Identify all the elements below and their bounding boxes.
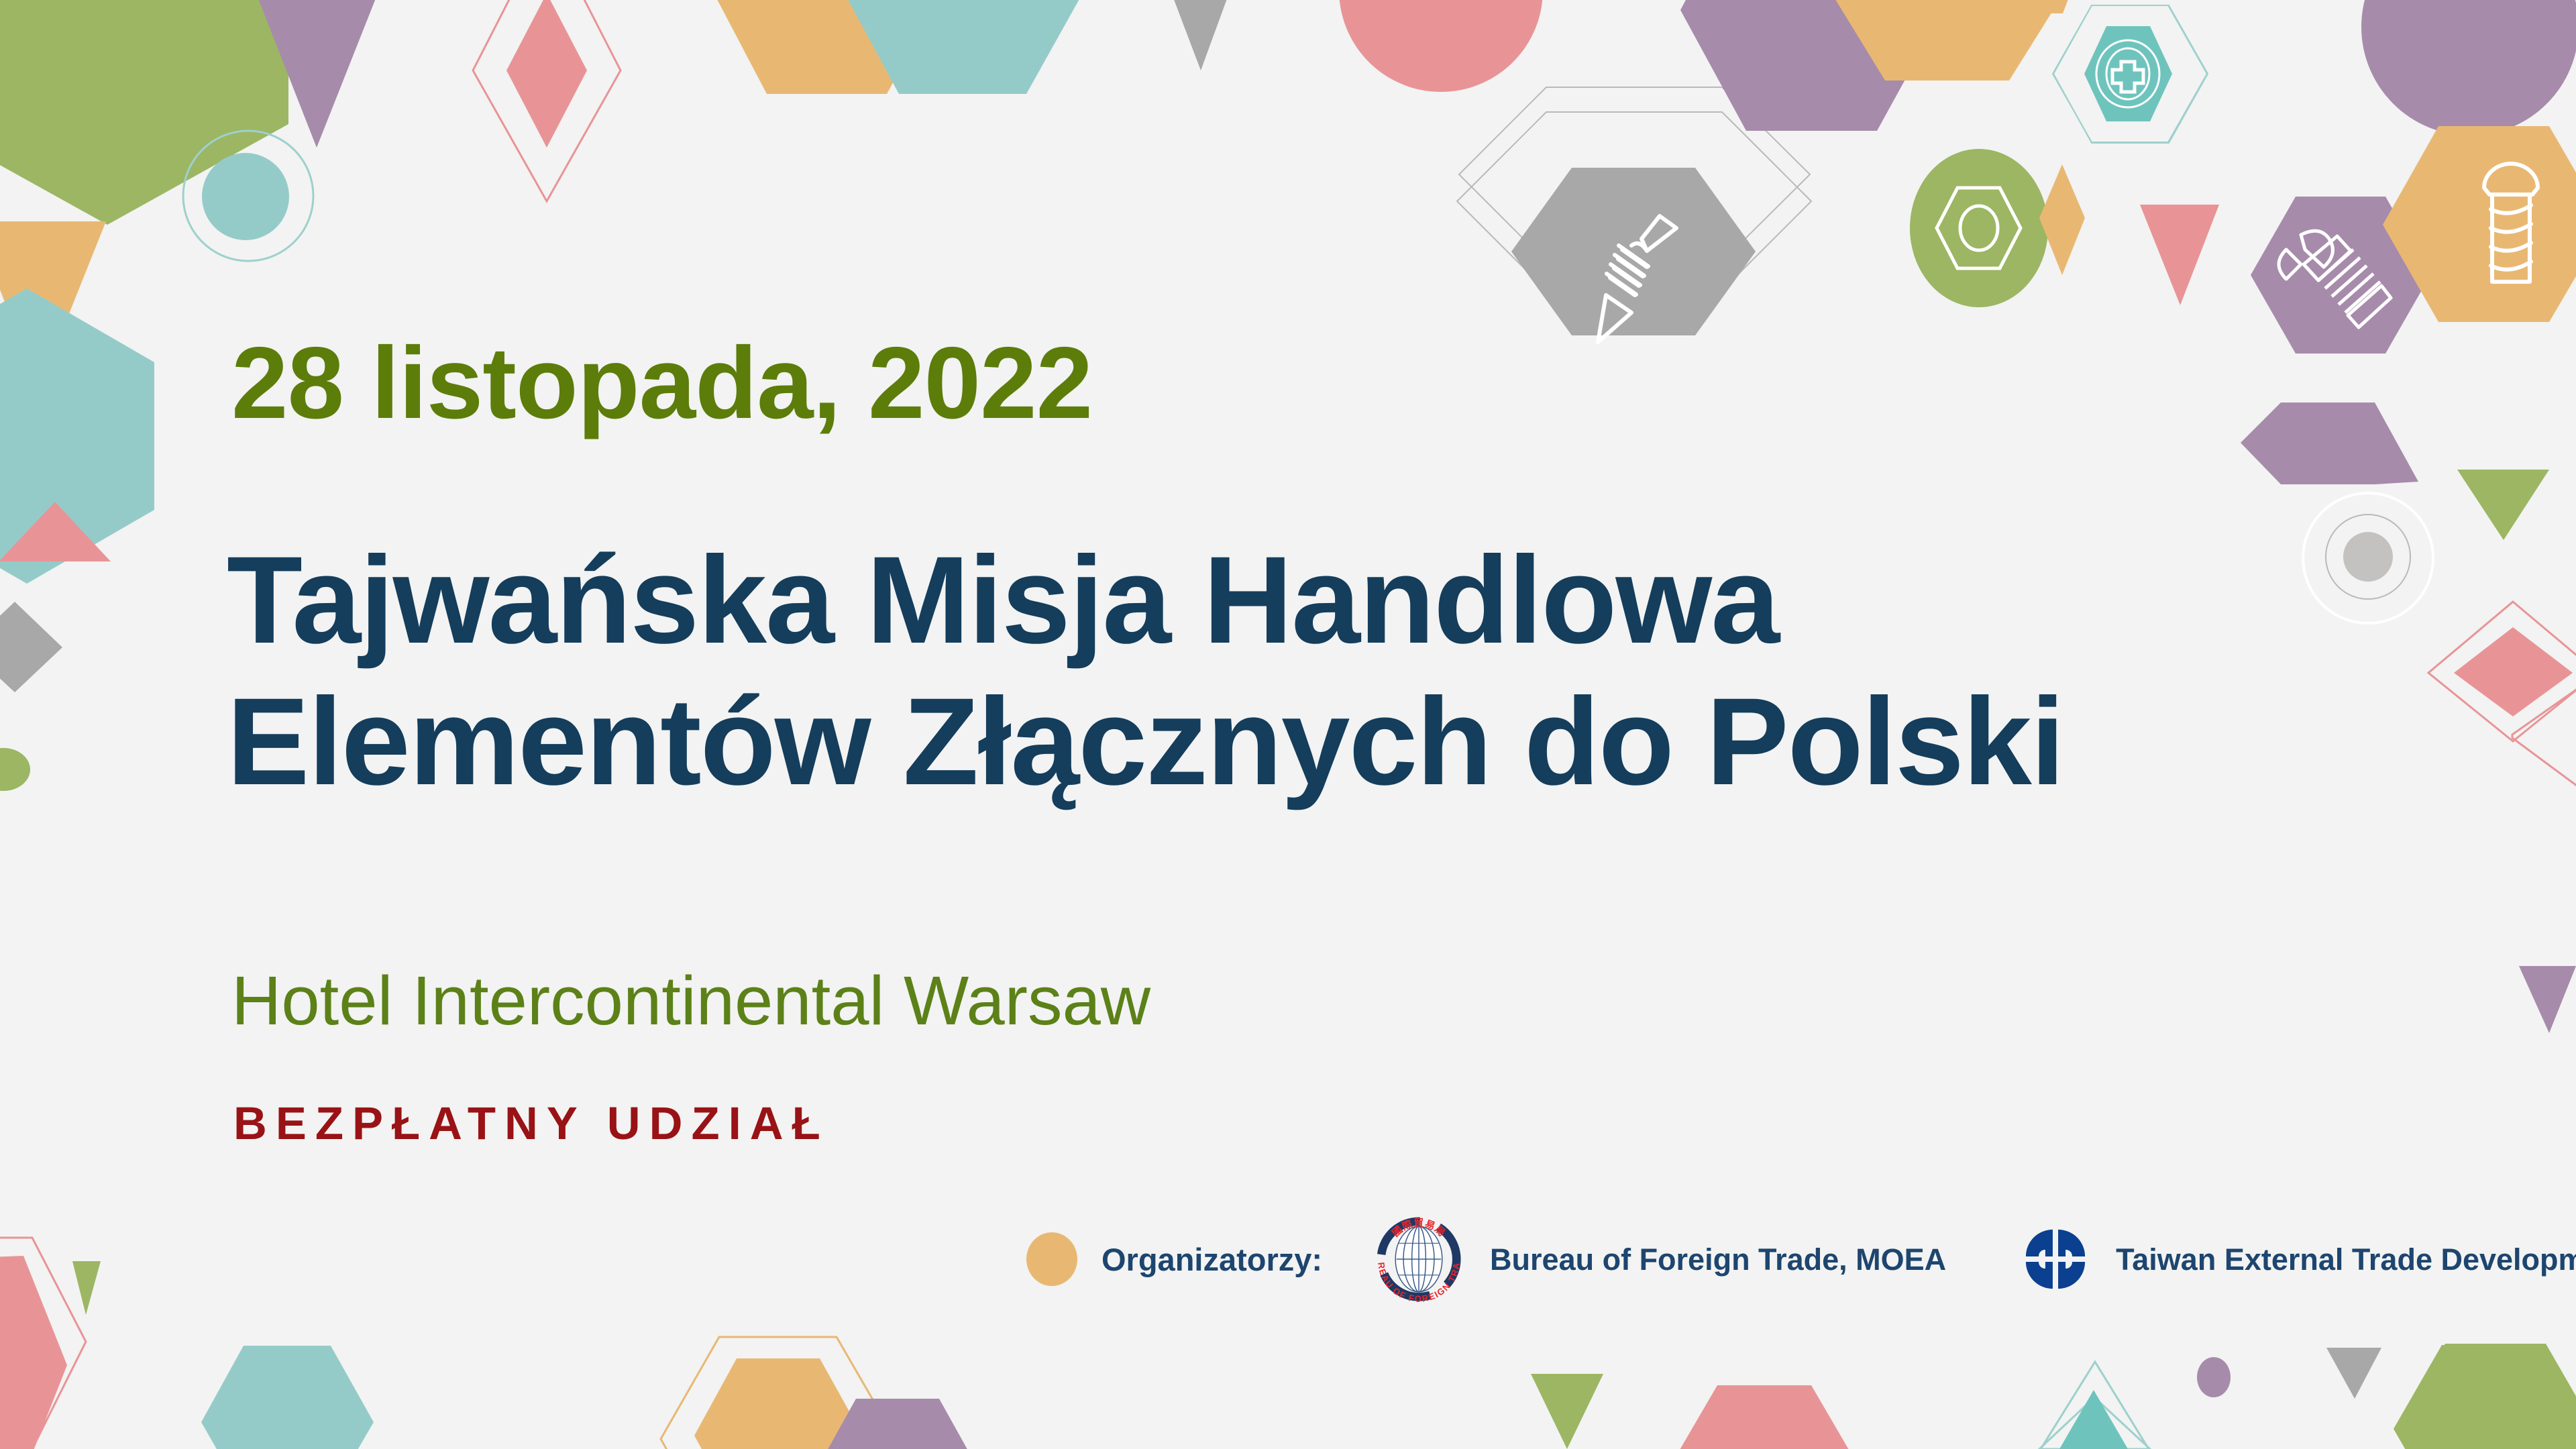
organiser-bureau-of-foreign-trade: 國際貿易局 BUREAU OF FOREIGN TRADE Bureau of …: [1369, 1210, 1946, 1309]
organiser-taitra: Taiwan External Trade Development Counci…: [2017, 1220, 2576, 1298]
organiser-name-taitra: Taiwan External Trade Development Counci…: [2116, 1244, 2576, 1275]
organiser-name-bft: Bureau of Foreign Trade, MOEA: [1490, 1244, 1946, 1275]
accent-dot-icon: [1026, 1232, 1077, 1286]
event-date: 28 listopada, 2022: [231, 332, 1092, 434]
bureau-of-foreign-trade-globe-icon: 國際貿易局 BUREAU OF FOREIGN TRADE: [1369, 1210, 1468, 1309]
free-admission-badge: BEZPŁATNY UDZIAŁ: [233, 1100, 829, 1146]
organisers-row: Organizatorzy:: [1026, 1216, 2576, 1303]
taitra-four-petal-icon: [2017, 1220, 2094, 1298]
event-venue: Hotel Intercontinental Warsaw: [231, 966, 1150, 1035]
organisers-label: Organizatorzy:: [1102, 1244, 1322, 1275]
headline-line-2: Elementów Złącznych do Polski: [227, 672, 2063, 813]
page-title: Tajwańska Misja Handlowa Elementów Złącz…: [227, 530, 2063, 813]
event-banner: 28 listopada, 2022 Tajwańska Misja Handl…: [0, 0, 2576, 1449]
headline-line-1: Tajwańska Misja Handlowa: [227, 531, 1778, 669]
